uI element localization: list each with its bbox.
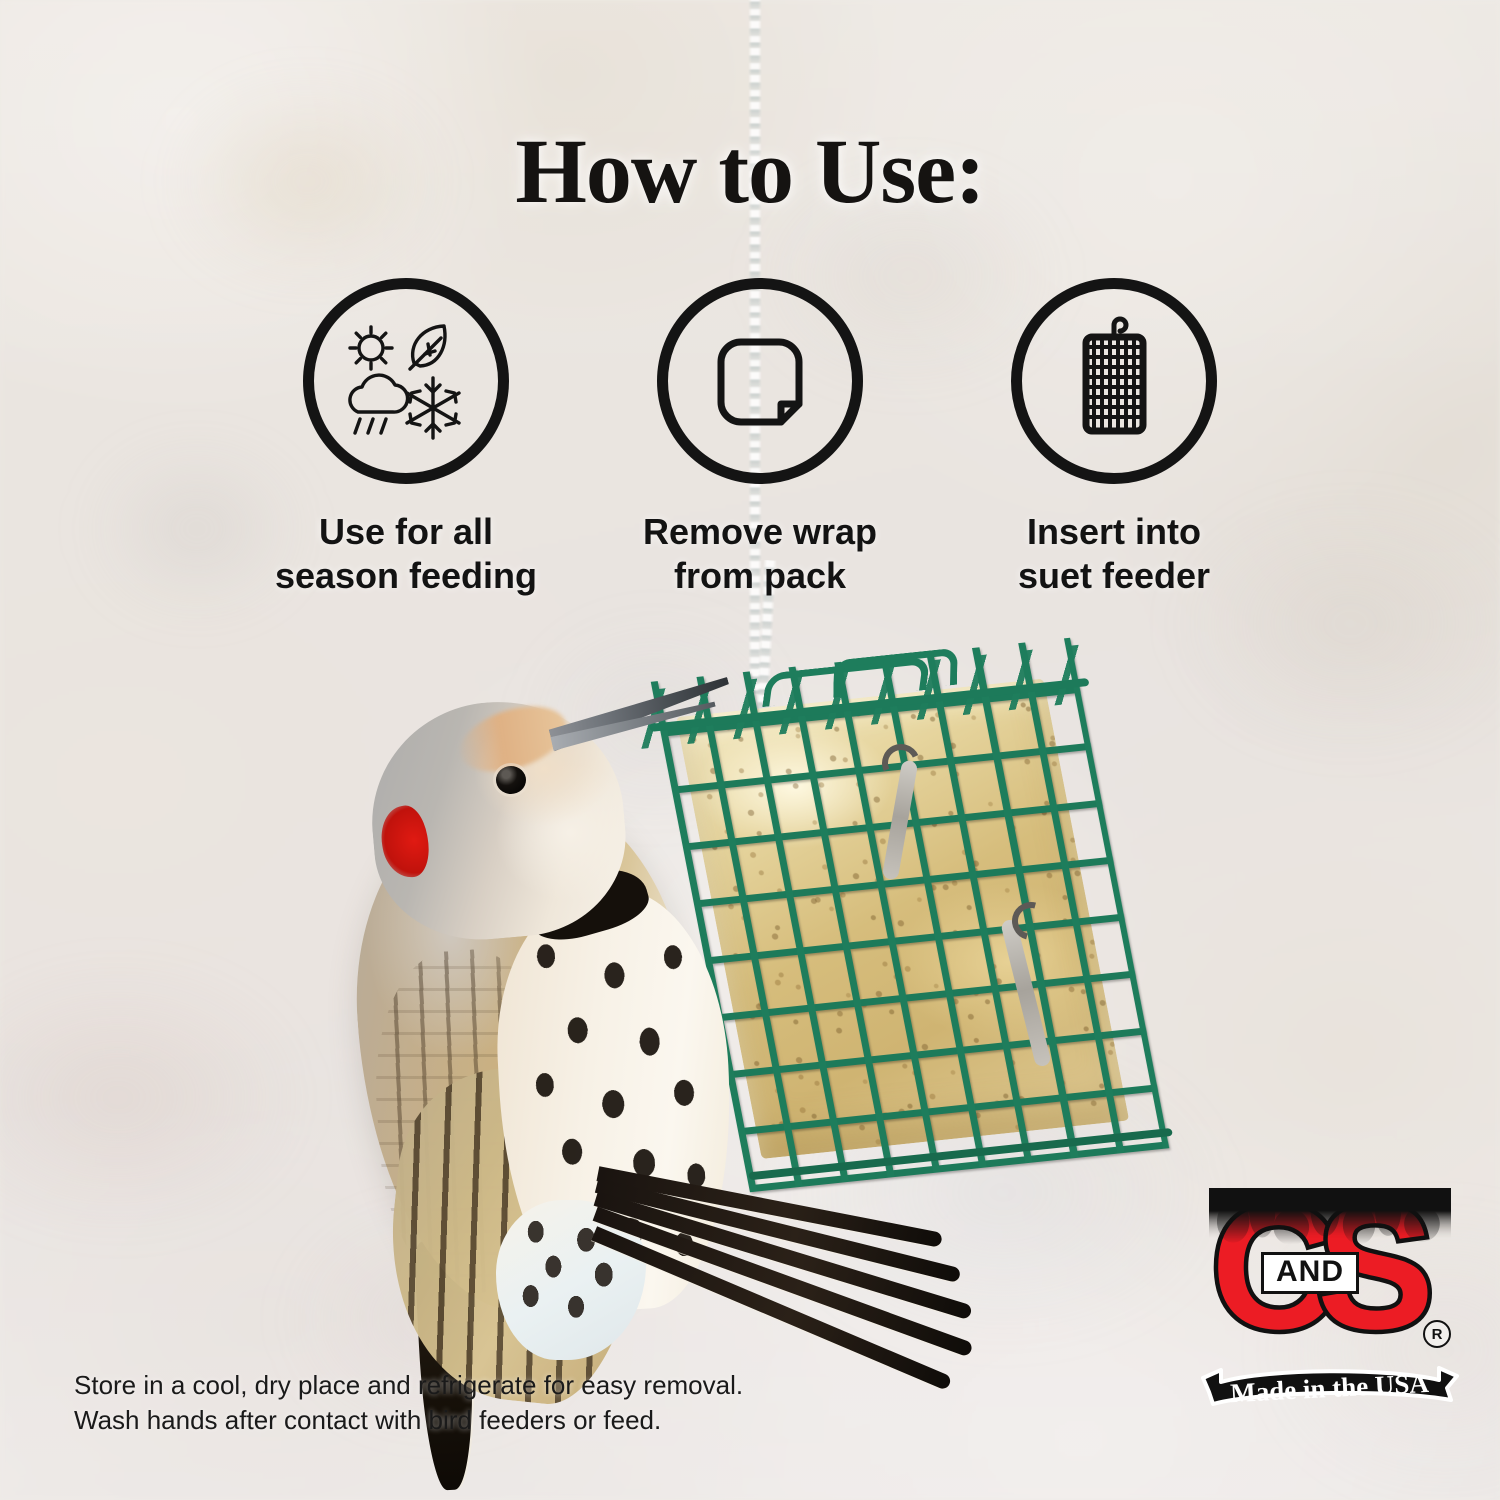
made-in-usa-banner: Made in the USA — [1199, 1364, 1461, 1426]
suet-cage-icon — [1011, 278, 1217, 484]
storage-instructions: Store in a cool, dry place and refrigera… — [74, 1368, 743, 1438]
bird-claw-upper — [877, 739, 926, 788]
step-insert-suet-feeder: Insert into suet feeder — [958, 278, 1270, 598]
usage-steps: Use for all season feeding Remove wrap f… — [250, 278, 1270, 598]
peel-wrapper-icon — [657, 278, 863, 484]
logo-and-badge: AND — [1261, 1252, 1359, 1294]
brand-logo-c-and-s: C S AND R Made in the USA — [1205, 1192, 1455, 1442]
four-seasons-icon — [303, 278, 509, 484]
logo-lettermark: C S AND R — [1205, 1192, 1455, 1360]
bird-eye — [496, 766, 526, 794]
sun-icon — [350, 327, 392, 369]
mesh-grid-icon — [1088, 339, 1141, 429]
leaf-icon — [410, 326, 445, 369]
step-caption: Use for all season feeding — [275, 510, 537, 598]
step-caption: Remove wrap from pack — [643, 510, 877, 598]
rounded-square-icon — [721, 342, 799, 422]
infographic-page: How to Use: — [0, 0, 1500, 1500]
page-title: How to Use: — [0, 118, 1500, 224]
northern-flicker-bird — [300, 640, 940, 1360]
step-caption: Insert into suet feeder — [1018, 510, 1210, 598]
snowflake-icon — [407, 378, 459, 438]
registered-trademark-icon: R — [1423, 1320, 1451, 1348]
rain-cloud-icon — [350, 375, 408, 433]
step-all-season-feeding: Use for all season feeding — [250, 278, 562, 598]
step-remove-wrap: Remove wrap from pack — [604, 278, 916, 598]
